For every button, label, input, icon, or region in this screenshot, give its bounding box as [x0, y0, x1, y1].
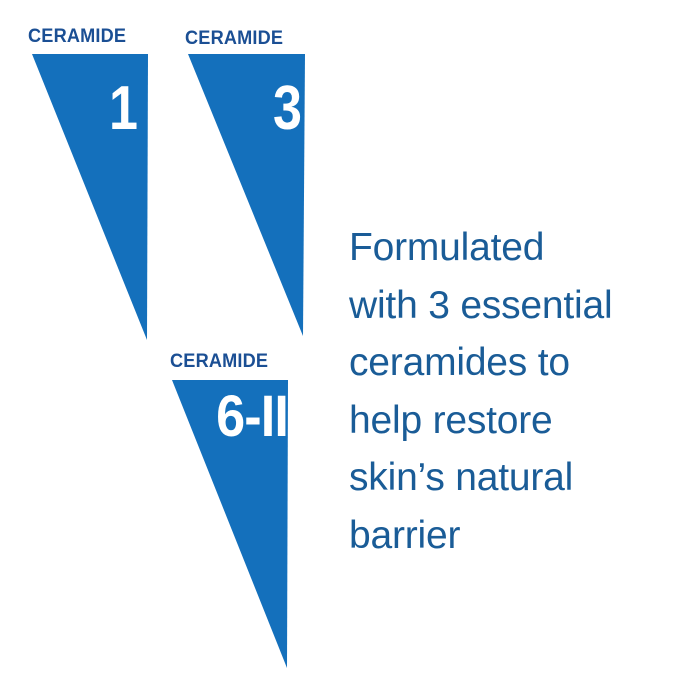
triangle-icon: [150, 326, 360, 679]
copy-line: with 3 essential: [349, 277, 649, 335]
infographic-canvas: CERAMIDE 1 CERAMIDE 3 CERAMIDE 6-II Form…: [0, 0, 679, 679]
copy-line: skin’s natural: [349, 449, 649, 507]
ceramide-number-3: 3: [235, 78, 302, 140]
ceramide-pennant-6-ii: CERAMIDE 6-II: [150, 326, 360, 679]
marketing-copy: Formulated with 3 essential ceramides to…: [349, 219, 649, 564]
copy-line: help restore: [349, 392, 649, 450]
ceramide-number-6-ii: 6-II: [173, 388, 288, 446]
ceramide-number-1: 1: [72, 78, 138, 140]
copy-line: ceramides to: [349, 334, 649, 392]
triangle-icon: [160, 0, 360, 360]
copy-line: barrier: [349, 507, 649, 565]
ceramide-pennant-3: CERAMIDE 3: [160, 0, 360, 360]
copy-line: Formulated: [349, 219, 649, 277]
